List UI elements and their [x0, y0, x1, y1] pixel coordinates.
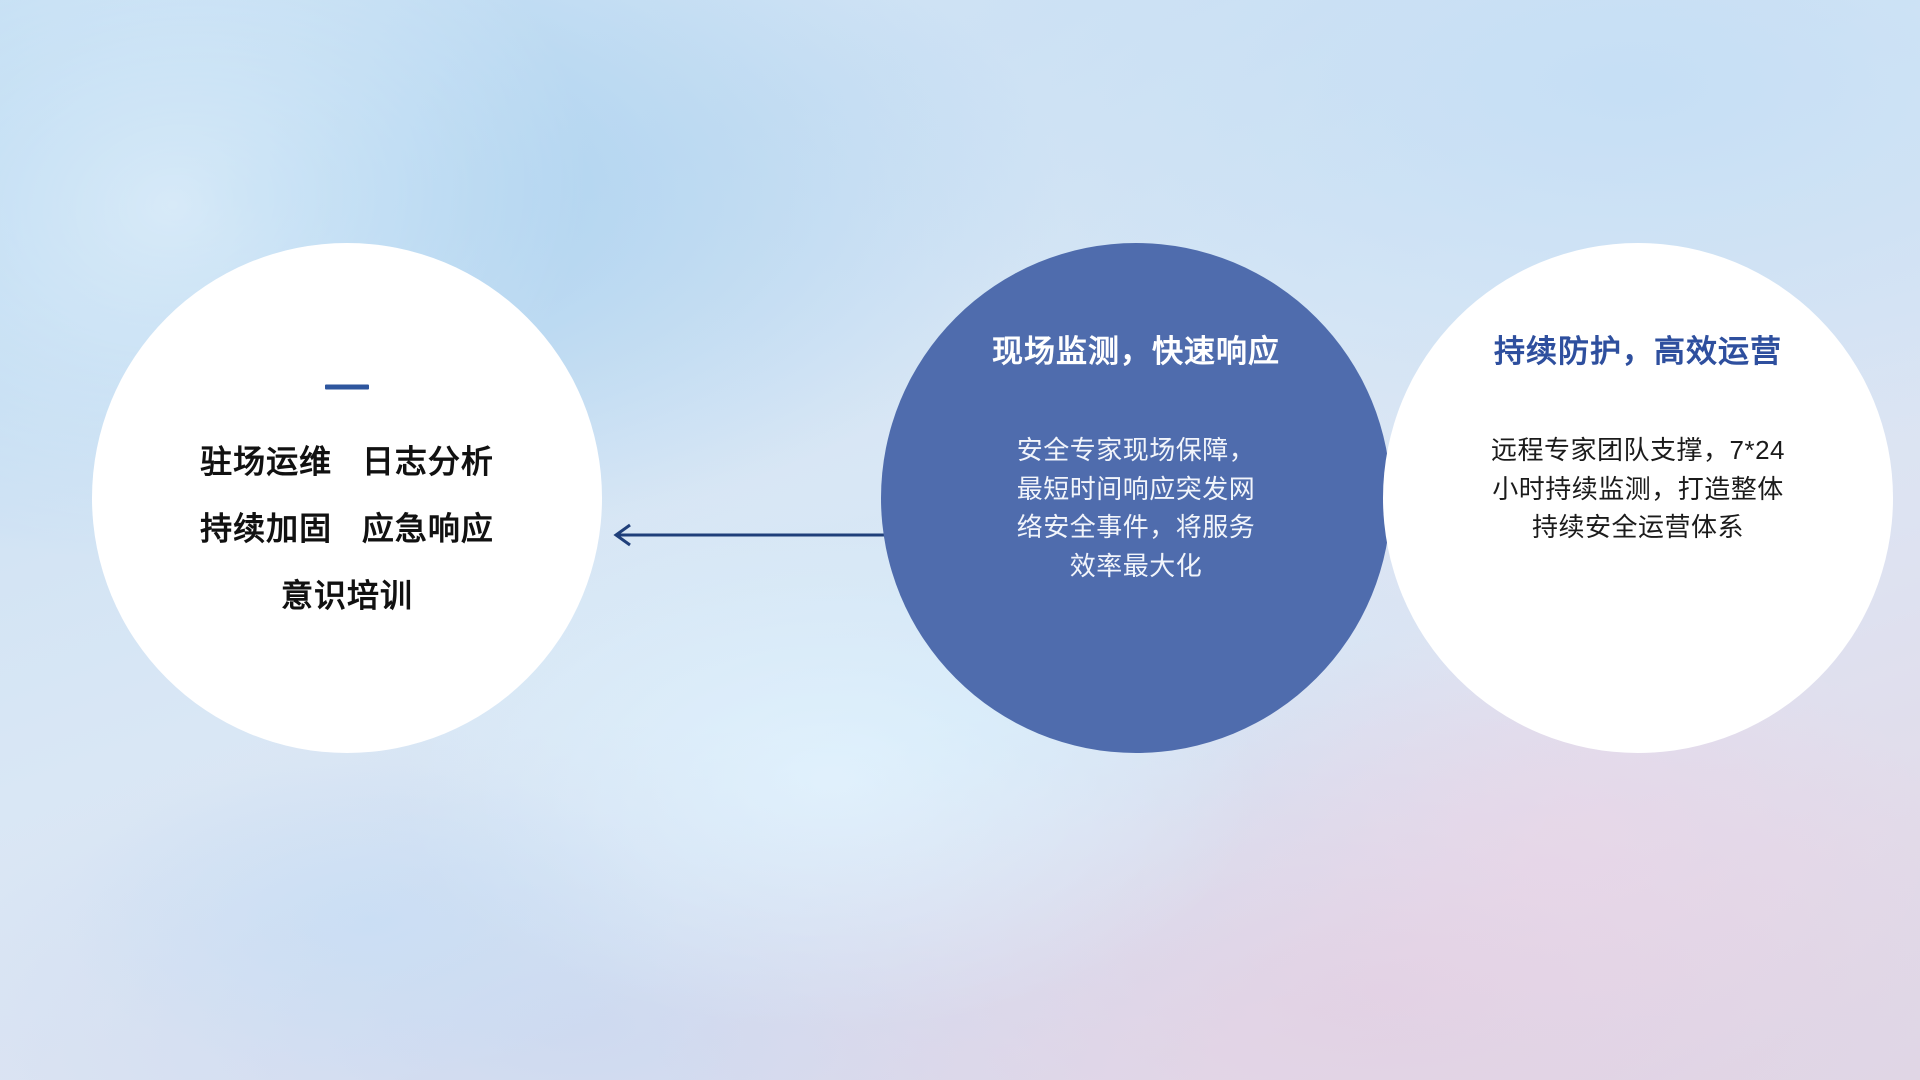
onsite-monitoring-body-line-3: 络安全事件，将服务: [933, 508, 1339, 546]
onsite-monitoring-body: 安全专家现场保障， 最短时间响应突发网 络安全事件，将服务 效率最大化: [933, 431, 1339, 585]
slide-canvas: 驻场运维 日志分析 持续加固 应急响应 意识培训 现场监测，快速响应 安全专家现…: [0, 0, 1920, 1080]
driven-ops-line-1: 驻场运维 日志分析: [126, 446, 568, 478]
continuous-protection-title: 持续防护，高效运营: [1419, 335, 1857, 369]
continuous-protection-body-line-2: 小时持续监测，打造整体: [1419, 470, 1857, 508]
onsite-monitoring-title: 现场监测，快速响应: [933, 335, 1339, 369]
continuous-protection-body: 远程专家团队支撑，7*24 小时持续监测，打造整体 持续安全运营体系: [1419, 431, 1857, 546]
continuous-protection-body-line-3: 持续安全运营体系: [1419, 508, 1857, 546]
driven-ops-line-2: 持续加固 应急响应: [126, 513, 568, 545]
continuous-protection-body-line-1: 远程专家团队支撑，7*24: [1419, 431, 1857, 469]
background-glow-bottom-left: [60, 760, 680, 1080]
left-pointing-arrow: [600, 520, 890, 550]
onsite-monitoring-body-line-1: 安全专家现场保障，: [933, 431, 1339, 469]
continuous-protection-content: 持续防护，高效运营 远程专家团队支撑，7*24 小时持续监测，打造整体 持续安全…: [1383, 243, 1893, 753]
onsite-monitoring-body-line-2: 最短时间响应突发网: [933, 470, 1339, 508]
continuous-protection-circle[interactable]: 持续防护，高效运营 远程专家团队支撑，7*24 小时持续监测，打造整体 持续安全…: [1383, 243, 1893, 753]
onsite-monitoring-body-line-4: 效率最大化: [933, 547, 1339, 585]
driven-ops-content: 驻场运维 日志分析 持续加固 应急响应 意识培训: [92, 385, 602, 612]
onsite-monitoring-circle[interactable]: 现场监测，快速响应 安全专家现场保障， 最短时间响应突发网 络安全事件，将服务 …: [881, 243, 1391, 753]
driven-ops-line-3: 意识培训: [126, 580, 568, 612]
onsite-monitoring-content: 现场监测，快速响应 安全专家现场保障， 最短时间响应突发网 络安全事件，将服务 …: [881, 243, 1391, 753]
divider-dash: [325, 385, 369, 390]
driven-ops-circle[interactable]: 驻场运维 日志分析 持续加固 应急响应 意识培训: [92, 243, 602, 753]
